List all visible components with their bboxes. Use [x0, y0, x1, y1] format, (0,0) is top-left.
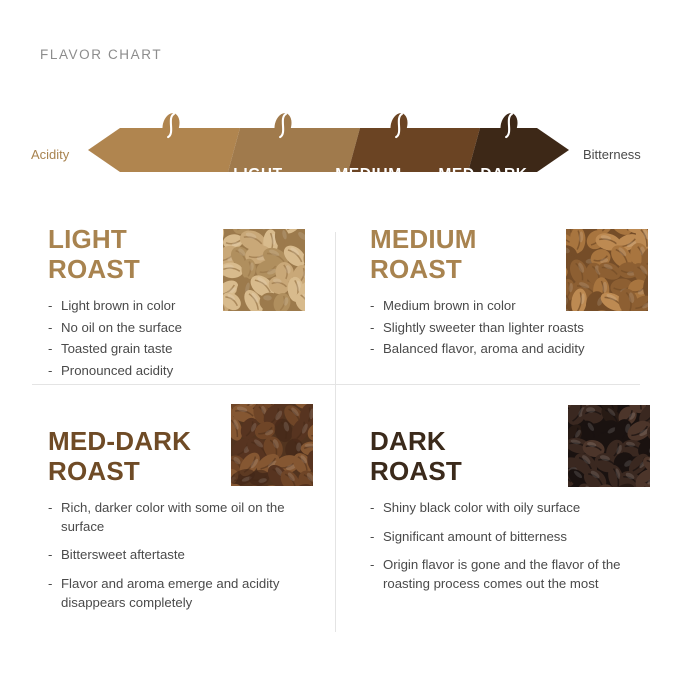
list-item: -Rich, darker color with some oil on the…	[48, 499, 323, 536]
segment-label-medium: MEDIUM	[316, 166, 421, 184]
panel-bullet-list: -Rich, darker color with some oil on the…	[48, 499, 323, 613]
axis-label-acidity: Acidity	[31, 147, 69, 162]
bullet-dash: -	[48, 319, 52, 338]
list-item: -Origin flavor is gone and the flavor of…	[370, 556, 652, 593]
segment-label-med-dark: MED-DARK	[428, 166, 538, 184]
coffee-bean-icon	[160, 111, 182, 140]
bullet-dash: -	[370, 556, 374, 575]
list-item-text: Medium brown in color	[383, 298, 516, 313]
list-item: -Shiny black color with oily surface	[370, 499, 652, 518]
bullet-dash: -	[370, 340, 374, 359]
list-item-text: Shiny black color with oily surface	[383, 500, 580, 515]
list-item-text: Light brown in color	[61, 298, 175, 313]
list-item-text: Bittersweet aftertaste	[61, 547, 185, 562]
list-item-text: Origin flavor is gone and the flavor of …	[383, 557, 621, 591]
left-arrowhead	[88, 128, 120, 172]
coffee-bean-icon	[388, 111, 410, 140]
bullet-dash: -	[370, 499, 374, 518]
coffee-bean-icon	[272, 111, 294, 140]
bullet-dash: -	[48, 499, 52, 518]
segment-label-light: LIGHT	[208, 166, 308, 184]
quadrant-divider-vertical	[335, 232, 336, 632]
bullet-dash: -	[48, 546, 52, 565]
list-item-text: Flavor and aroma emerge and acidity disa…	[61, 576, 279, 610]
roast-spectrum: Acidity Bitterness LIGHT MEDIUM MED-DARK…	[0, 104, 679, 182]
list-item: -Pronounced acidity	[48, 362, 320, 381]
list-item: -Significant amount of bitterness	[370, 528, 652, 547]
list-item: -Balanced flavor, aroma and acidity	[370, 340, 650, 359]
med-dark-roast-beans-photo	[231, 404, 313, 486]
list-item: -Slightly sweeter than lighter roasts	[370, 319, 650, 338]
segment-label-dark: DARK	[550, 166, 645, 184]
bullet-dash: -	[48, 362, 52, 381]
panel-bullet-list: -Shiny black color with oily surface -Si…	[370, 499, 652, 594]
light-roast-beans-photo	[223, 229, 305, 311]
list-item-text: Rich, darker color with some oil on the …	[61, 500, 285, 534]
list-item: -Flavor and aroma emerge and acidity dis…	[48, 575, 323, 612]
list-item-text: No oil on the surface	[61, 320, 182, 335]
bullet-dash: -	[370, 297, 374, 316]
bullet-dash: -	[48, 297, 52, 316]
bullet-dash: -	[48, 340, 52, 359]
list-item-text: Balanced flavor, aroma and acidity	[383, 341, 585, 356]
list-item: -Toasted grain taste	[48, 340, 320, 359]
quadrant-divider-horizontal	[32, 384, 640, 385]
list-item-text: Slightly sweeter than lighter roasts	[383, 320, 584, 335]
page-title: FLAVOR CHART	[40, 47, 162, 62]
bullet-dash: -	[370, 528, 374, 547]
list-item-text: Pronounced acidity	[61, 363, 173, 378]
list-item: -No oil on the surface	[48, 319, 320, 338]
medium-roast-beans-photo	[566, 229, 648, 311]
bullet-dash: -	[48, 575, 52, 594]
bullet-dash: -	[370, 319, 374, 338]
dark-roast-beans-photo	[568, 405, 650, 487]
list-item-text: Toasted grain taste	[61, 341, 172, 356]
axis-label-bitterness: Bitterness	[583, 147, 641, 162]
list-item: -Bittersweet aftertaste	[48, 546, 323, 565]
coffee-bean-icon	[498, 111, 520, 140]
flavor-chart-infographic: FLAVOR CHART Acidity Bitterness LIGHT ME…	[0, 0, 679, 679]
list-item-text: Significant amount of bitterness	[383, 529, 567, 544]
